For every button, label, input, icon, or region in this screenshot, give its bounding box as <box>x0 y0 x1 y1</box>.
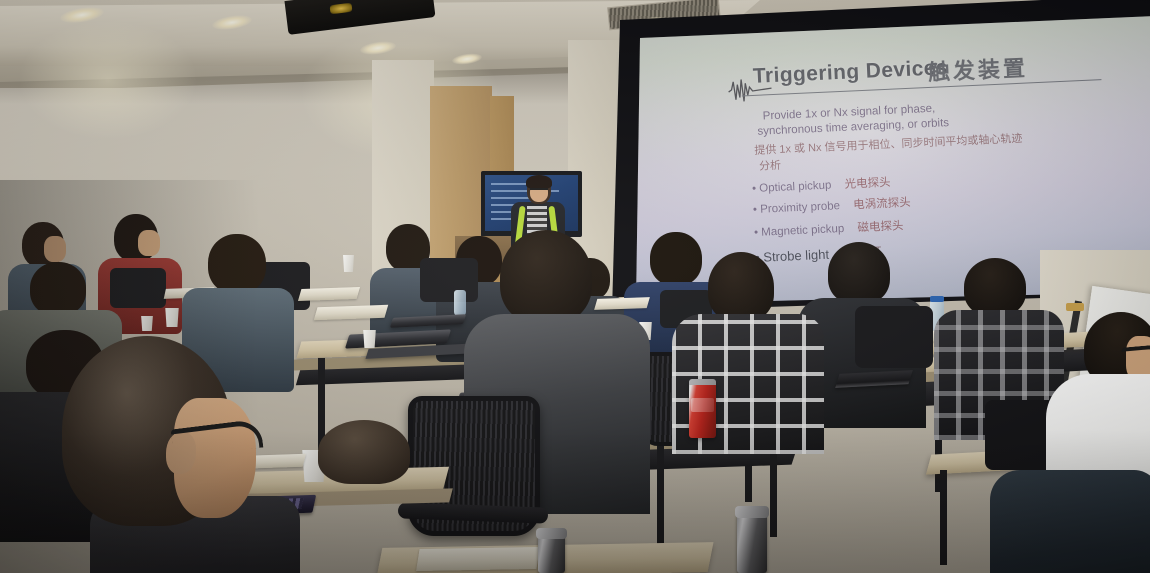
water-bottle <box>1066 310 1084 350</box>
thermos-cap <box>735 506 769 518</box>
glasses-icon <box>1121 344 1150 367</box>
attendee-face <box>44 236 66 262</box>
water-bottle <box>454 290 466 316</box>
thermos-cap <box>536 528 567 539</box>
presenter-hair <box>526 175 552 189</box>
bottle-cap <box>930 296 944 302</box>
chair <box>420 258 478 302</box>
slide-bullet: • Optical pickup 光电探头 <box>752 174 891 196</box>
desk-leg <box>657 440 664 550</box>
attendee-face <box>138 230 160 256</box>
bottle-cap <box>1066 303 1084 311</box>
attendee-head <box>30 262 86 316</box>
attendee-head <box>208 234 266 294</box>
slide-bullet-en: Optical pickup <box>759 179 832 194</box>
slide-bullet-line-cn: 分析 <box>759 157 782 174</box>
attendee-head <box>500 230 592 324</box>
slide-bullet-en: Strobe light <box>763 247 829 265</box>
slide-bullet: • Magnetic pickup 磁电探头 <box>754 217 904 240</box>
paper-cup <box>342 255 355 272</box>
soda-can-label <box>691 398 714 412</box>
attendee-head <box>828 242 890 304</box>
slide-title-cn: 触发装置 <box>927 50 1028 87</box>
slide-bullet-en: Magnetic pickup <box>761 223 845 239</box>
chair <box>855 306 933 368</box>
slide-bullet-cn: 电涡流探头 <box>853 197 911 212</box>
thermos-flask <box>737 512 767 573</box>
attendee-head <box>964 258 1026 316</box>
attendee-head <box>708 252 774 322</box>
glasses-icon <box>530 188 548 194</box>
classroom-photo: Triggering Devices 触发装置 Provide 1x or Nx… <box>0 0 1150 573</box>
slide-bullet: • Proximity probe 电涡流探头 <box>753 194 911 217</box>
attendee-head <box>650 232 702 286</box>
attendee-torso <box>990 470 1150 573</box>
paper-cup <box>164 308 180 327</box>
thermos-flask <box>538 534 565 573</box>
handout-papers <box>314 305 389 320</box>
slide-bullet-en: Proximity probe <box>760 200 840 216</box>
paper-cup <box>140 316 154 331</box>
handout-papers <box>594 297 650 310</box>
handout-papers <box>416 547 540 571</box>
soda-can-top <box>689 379 716 385</box>
handout-papers <box>298 287 360 301</box>
slide-bullet-cn: 磁电探头 <box>857 220 903 234</box>
attendee-head <box>318 420 410 484</box>
paper-cup <box>362 330 377 348</box>
chair <box>110 268 166 308</box>
slide-bullet-cn: 光电探头 <box>844 177 890 191</box>
desk-leg <box>940 470 947 565</box>
slide-title: Triggering Devices <box>752 56 948 89</box>
